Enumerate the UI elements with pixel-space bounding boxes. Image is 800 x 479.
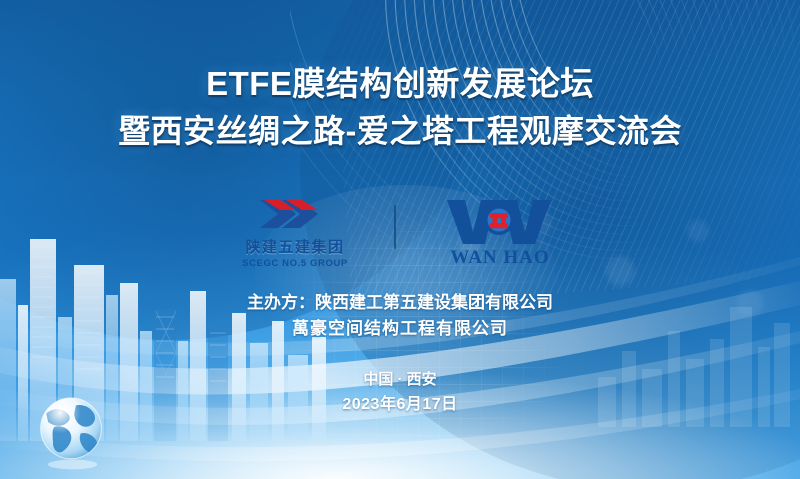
banner-title-line-2: 暨西安丝绸之路-爱之塔工程观摩交流会 — [0, 111, 800, 152]
banner-content: ETFE膜结构创新发展论坛 暨西安丝绸之路-爱之塔工程观摩交流会 陕建五建集团 — [0, 0, 800, 479]
event-banner: ETFE膜结构创新发展论坛 暨西安丝绸之路-爱之塔工程观摩交流会 陕建五建集团 — [0, 0, 800, 479]
scegc-name-en: SCEGC NO.5 GROUP — [242, 258, 348, 269]
host-line-2: 萬豪空间结构工程有限公司 — [0, 316, 800, 342]
wanhao-logo: WAN HAO — [420, 198, 580, 269]
wanhao-name-en: WAN HAO — [450, 247, 549, 269]
banner-title-line-1: ETFE膜结构创新发展论坛 — [0, 63, 800, 105]
double-chevron-icon — [256, 197, 334, 233]
place-block: 中国 · 西安 2023年6月17日 — [0, 368, 800, 418]
event-location: 中国 · 西安 — [0, 368, 800, 392]
logo-divider — [394, 205, 396, 249]
host-line-1: 主办方：陕西建工第五建设集团有限公司 — [0, 290, 800, 316]
wanhao-w-icon — [441, 198, 559, 246]
event-date: 2023年6月17日 — [0, 392, 800, 418]
scegc-name-cn: 陕建五建集团 — [245, 236, 344, 257]
banner-title-block: ETFE膜结构创新发展论坛 暨西安丝绸之路-爱之塔工程观摩交流会 — [0, 63, 800, 152]
host-block: 主办方：陕西建工第五建设集团有限公司 萬豪空间结构工程有限公司 — [0, 290, 800, 343]
sponsor-logos-row: 陕建五建集团 SCEGC NO.5 GROUP — [0, 197, 800, 269]
scegc-logo: 陕建五建集团 SCEGC NO.5 GROUP — [220, 197, 370, 269]
